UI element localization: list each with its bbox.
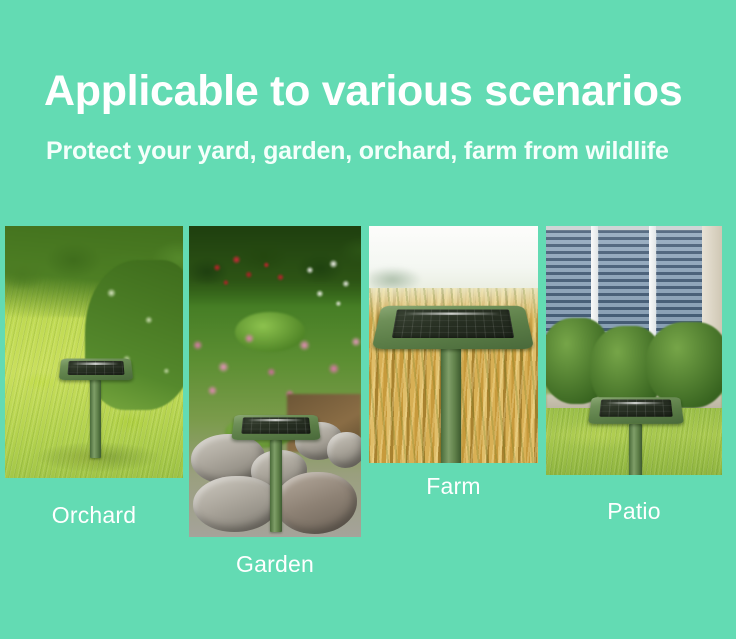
device-housing — [231, 415, 320, 440]
scene-image-patio — [546, 226, 722, 475]
page-title: Applicable to various scenarios — [44, 70, 682, 113]
panel-glint — [403, 313, 500, 315]
garden-rock — [327, 432, 361, 468]
solar-repeller-device — [60, 356, 132, 456]
garden-red-flowers — [203, 250, 291, 294]
garden-pink-flowers — [189, 320, 361, 404]
scene-image-orchard — [5, 226, 183, 478]
device-housing — [59, 359, 133, 381]
panel-glint — [72, 362, 119, 364]
device-stake — [441, 348, 461, 463]
farm-treeline — [369, 256, 447, 290]
device-housing — [588, 397, 684, 424]
solar-repeller-device — [233, 412, 319, 532]
scene-caption-patio: Patio — [546, 498, 722, 525]
solar-repeller-device — [590, 394, 682, 475]
solar-repeller-device — [377, 300, 529, 460]
scene-image-garden — [189, 226, 361, 537]
panel-glint — [247, 419, 303, 421]
scene-image-farm — [369, 226, 538, 463]
device-stake — [90, 380, 101, 458]
device-housing — [372, 306, 535, 349]
device-stake — [270, 440, 282, 532]
panel-glint — [605, 402, 665, 404]
page-subtitle: Protect your yard, garden, orchard, farm… — [46, 139, 669, 164]
scene-caption-orchard: Orchard — [5, 502, 183, 529]
device-stake — [629, 424, 642, 475]
scene-caption-garden: Garden — [189, 551, 361, 578]
garden-white-flowers — [295, 254, 357, 316]
scene-caption-farm: Farm — [369, 473, 538, 500]
